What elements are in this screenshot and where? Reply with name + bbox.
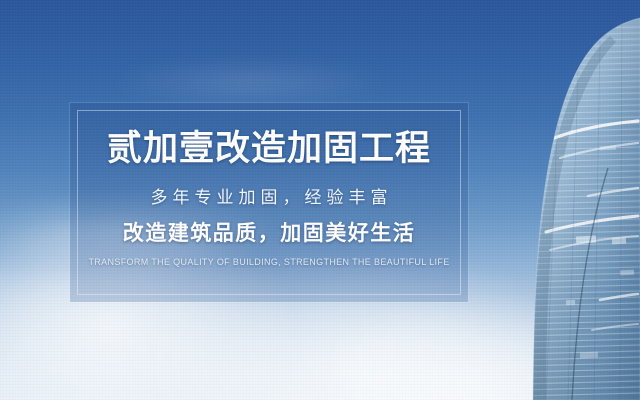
hero-headline: 贰加壹改造加固工程 [107,129,431,169]
hero-subline: 多年专业加固，经验丰富 [146,187,393,209]
skyscraper-photo [480,0,640,400]
hero-text-panel: 贰加壹改造加固工程 多年专业加固，经验丰富 改造建筑品质，加固美好生活 TRAN… [70,103,468,302]
hero-text-stack: 贰加壹改造加固工程 多年专业加固，经验丰富 改造建筑品质，加固美好生活 TRAN… [70,103,468,302]
hero-english-tagline: TRANSFORM THE QUALITY OF BUILDING, STREN… [88,256,449,268]
hero-banner: 贰加壹改造加固工程 多年专业加固，经验丰富 改造建筑品质，加固美好生活 TRAN… [0,0,640,400]
hero-tagline: 改造建筑品质，加固美好生活 [123,221,416,247]
cloud-wisp-top [120,60,380,106]
skyscraper-icon [480,0,640,400]
